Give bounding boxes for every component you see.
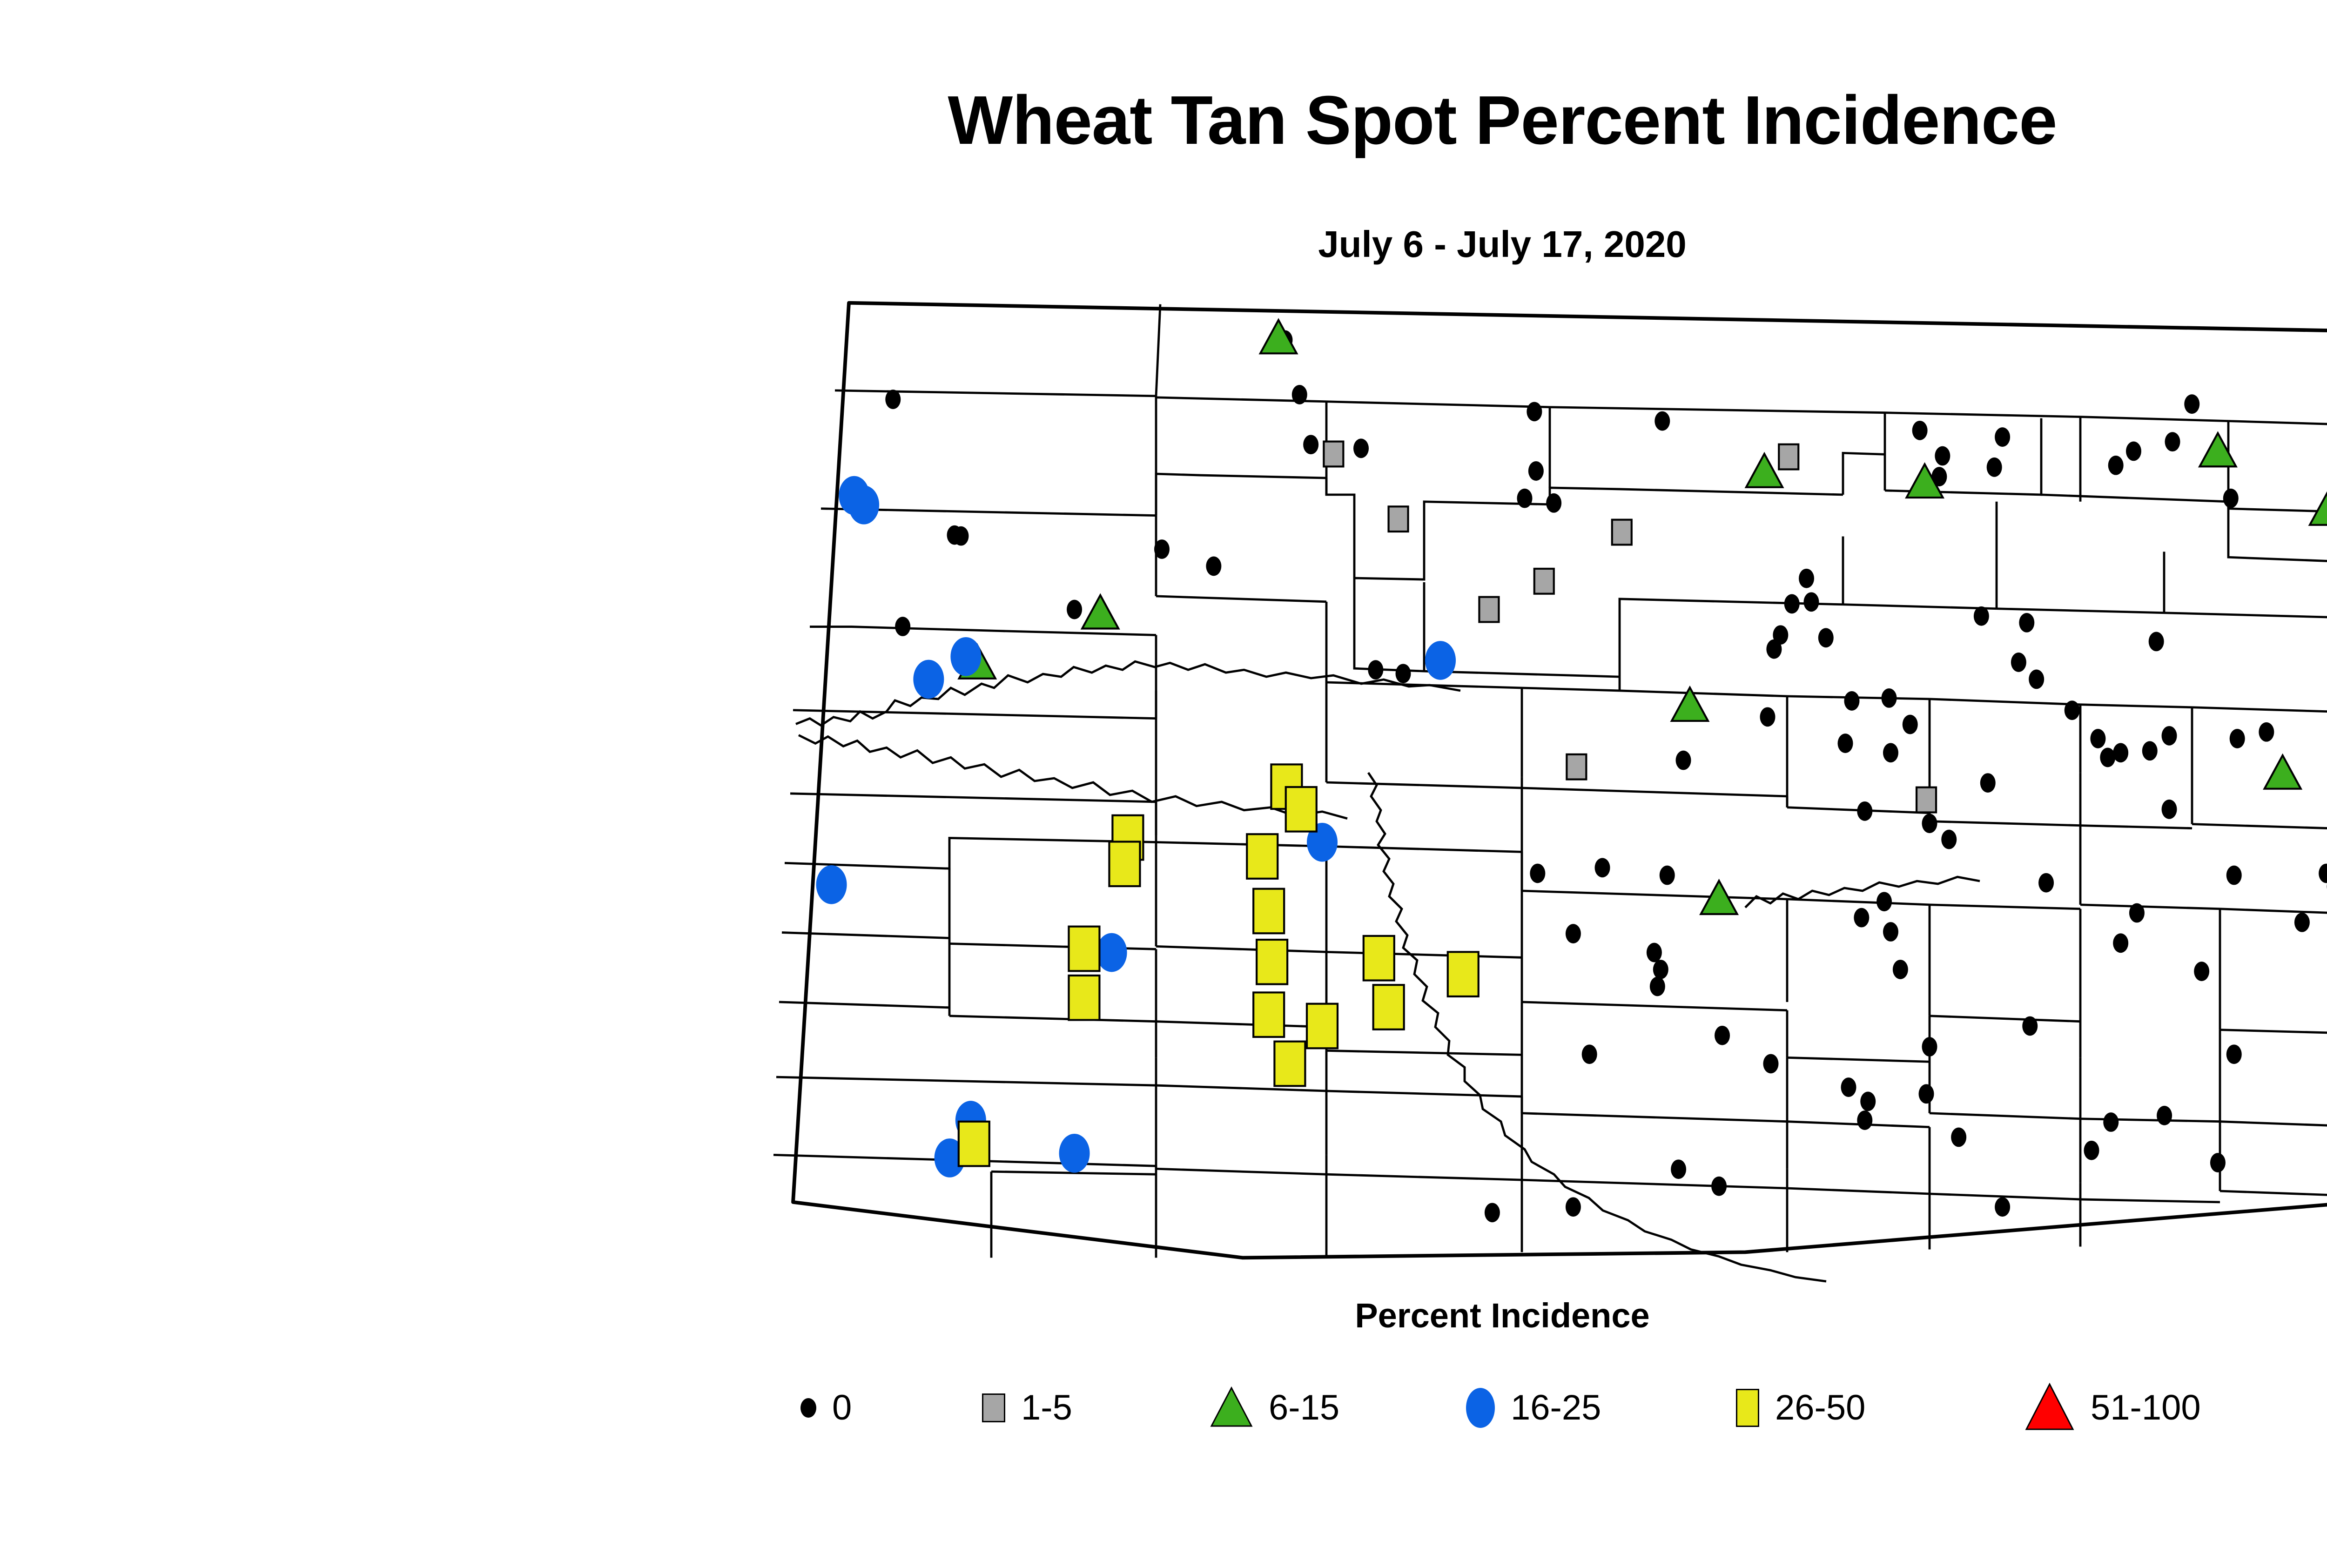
marker-zero xyxy=(2142,741,2158,760)
marker-zero xyxy=(1818,628,1834,647)
marker-zero xyxy=(1654,411,1670,431)
marker-zero xyxy=(1396,664,1411,683)
marker-16-25 xyxy=(816,865,847,904)
marker-zero xyxy=(2019,613,2034,633)
marker-zero xyxy=(1650,977,1665,996)
legend-label-2: 6-15 xyxy=(1269,1390,1339,1426)
marker-zero xyxy=(2226,1044,2242,1064)
marker-zero xyxy=(2165,432,2180,451)
marker-zero xyxy=(2157,1106,2172,1125)
marker-26-50 xyxy=(1373,985,1404,1030)
marker-zero xyxy=(1838,734,1853,753)
marker-zero xyxy=(1676,751,1691,770)
marker-zero xyxy=(1987,458,2002,477)
marker-zero xyxy=(1951,1127,1966,1147)
marker-16-25 xyxy=(950,637,981,676)
marker-zero xyxy=(1941,830,1957,849)
marker-26-50 xyxy=(1307,1004,1338,1049)
marker-zero xyxy=(1857,801,1872,821)
yellow-square-icon xyxy=(1736,1389,1759,1427)
legend-label-3: 16-25 xyxy=(1511,1390,1601,1426)
marker-zero xyxy=(1893,960,1908,979)
marker-zero xyxy=(1582,1044,1597,1064)
marker-zero xyxy=(1784,594,1800,614)
marker-zero xyxy=(1527,402,1542,421)
marker-zero xyxy=(1206,557,1221,576)
marker-zero xyxy=(1154,539,1170,559)
marker-zero xyxy=(1647,943,1662,962)
marker-zero xyxy=(953,526,968,546)
marker-zero xyxy=(1653,960,1668,979)
marker-zero xyxy=(1844,691,1859,711)
marker-6-15 xyxy=(1082,595,1118,629)
legend-item-2[interactable]: 6-15 xyxy=(1210,1368,1339,1447)
legend-item-5[interactable]: 51-100 xyxy=(2024,1368,2201,1447)
marker-zero xyxy=(1803,592,1819,612)
marker-zero xyxy=(2230,729,2245,748)
marker-zero xyxy=(1292,385,1307,404)
marker-zero xyxy=(2100,748,2115,767)
marker-16-25 xyxy=(1425,641,1456,680)
marker-zero xyxy=(1517,489,1533,508)
marker-zero xyxy=(1711,1177,1727,1196)
marker-zero xyxy=(2126,442,2141,461)
legend-label-1: 1-5 xyxy=(1021,1390,1072,1426)
data-point-layer xyxy=(768,279,2327,1294)
marker-zero xyxy=(1974,606,1989,626)
marker-zero xyxy=(1919,1084,1934,1104)
marker-zero xyxy=(1922,814,1937,833)
marker-zero xyxy=(895,617,910,636)
marker-zero xyxy=(2113,933,2128,953)
marker-zero xyxy=(2162,800,2177,819)
marker-26-50 xyxy=(1364,936,1394,981)
marker-zero xyxy=(1671,1159,1686,1179)
marker-16-25 xyxy=(848,485,879,525)
marker-zero xyxy=(1995,427,2010,447)
marker-zero xyxy=(1660,866,1675,885)
marker-zero xyxy=(2108,456,2124,475)
marker-zero xyxy=(2011,653,2026,672)
marker-zero xyxy=(2149,632,2164,651)
marker-6-15 xyxy=(1672,687,1708,721)
green-triangle-svg xyxy=(1210,1386,1253,1427)
marker-zero xyxy=(2038,873,2054,893)
marker-zero xyxy=(1485,1203,1500,1222)
blue-circle-icon xyxy=(1466,1388,1495,1428)
gray-square-icon xyxy=(982,1393,1005,1422)
marker-zero xyxy=(1760,707,1776,727)
marker-26-50 xyxy=(1069,976,1099,1020)
marker-zero xyxy=(1903,715,1918,734)
marker-zero xyxy=(2162,726,2177,746)
marker-26-50 xyxy=(959,1122,989,1166)
marker-zero xyxy=(2065,700,2080,720)
marker-zero xyxy=(1882,688,1897,708)
marker-zero xyxy=(1353,438,1369,458)
marker-zero xyxy=(2259,722,2274,742)
marker-zero xyxy=(2223,489,2239,508)
marker-zero xyxy=(1546,493,1561,513)
marker-26-50 xyxy=(1448,952,1479,996)
marker-zero xyxy=(2103,1112,2119,1132)
marker-zero xyxy=(2022,1016,2038,1036)
marker-1-5 xyxy=(1917,787,1936,813)
marker-1-5 xyxy=(1324,442,1343,467)
marker-zero xyxy=(1763,1054,1778,1074)
marker-zero xyxy=(2194,962,2209,981)
marker-1-5 xyxy=(1612,520,1632,545)
marker-zero xyxy=(1067,600,1082,619)
marker-zero xyxy=(2113,743,2128,762)
marker-zero xyxy=(885,390,901,409)
marker-1-5 xyxy=(1534,569,1554,594)
marker-zero xyxy=(1528,461,1544,481)
marker-26-50 xyxy=(1274,1042,1305,1086)
marker-1-5 xyxy=(1479,597,1499,622)
marker-zero xyxy=(2226,866,2242,885)
marker-zero xyxy=(1766,639,1782,659)
marker-zero xyxy=(1980,773,1996,793)
marker-zero xyxy=(1860,1092,1876,1111)
marker-zero xyxy=(1935,446,1950,466)
marker-zero xyxy=(1883,922,1898,942)
legend-label-0: 0 xyxy=(832,1390,852,1426)
legend-label-5: 51-100 xyxy=(2091,1390,2201,1426)
marker-16-25 xyxy=(1096,933,1127,972)
marker-16-25 xyxy=(913,660,944,699)
page-subtitle: July 6 - July 17, 2020 xyxy=(0,226,2327,263)
north-dakota-map xyxy=(768,279,2327,1294)
marker-zero xyxy=(1799,569,1814,588)
red-triangle-svg xyxy=(2024,1383,2075,1431)
marker-zero xyxy=(1854,908,1869,928)
marker-zero xyxy=(1303,435,1318,454)
black-circle-icon xyxy=(800,1398,816,1418)
marker-zero xyxy=(2090,729,2105,748)
marker-zero xyxy=(2184,394,2199,414)
marker-6-15 xyxy=(1701,881,1737,914)
legend-item-3[interactable]: 16-25 xyxy=(1466,1368,1601,1447)
marker-zero xyxy=(2084,1141,2099,1160)
marker-zero xyxy=(1368,660,1383,680)
marker-zero xyxy=(1566,924,1581,943)
marker-zero xyxy=(1841,1077,1856,1097)
marker-26-50 xyxy=(1247,834,1278,879)
marker-zero xyxy=(1883,743,1898,762)
marker-16-25 xyxy=(1059,1134,1090,1173)
marker-6-15 xyxy=(2265,755,2301,789)
marker-6-15 xyxy=(2199,433,2236,467)
marker-zero xyxy=(1530,864,1545,883)
marker-1-5 xyxy=(1567,754,1586,780)
marker-26-50 xyxy=(1253,992,1284,1037)
marker-26-50 xyxy=(1286,787,1317,832)
marker-zero xyxy=(2319,864,2327,883)
green-triangle-icon xyxy=(1210,1386,1253,1430)
legend: Percent Incidence 0 1-5 6-15 1 xyxy=(0,1299,2327,1485)
marker-zero xyxy=(1912,421,1928,440)
marker-6-15 xyxy=(2310,491,2327,525)
marker-zero xyxy=(1876,892,1892,911)
figure-root: Wheat Tan Spot Percent Incidence July 6 … xyxy=(0,0,2327,1568)
marker-26-50 xyxy=(1253,889,1284,934)
marker-zero xyxy=(2129,903,2145,923)
marker-zero xyxy=(1922,1037,1937,1057)
marker-1-5 xyxy=(1389,506,1408,532)
legend-item-0[interactable]: 0 xyxy=(800,1368,852,1447)
marker-zero xyxy=(2210,1153,2226,1172)
marker-1-5 xyxy=(1779,444,1798,470)
marker-26-50 xyxy=(1109,841,1140,886)
marker-zero xyxy=(1995,1197,2010,1217)
page-title: Wheat Tan Spot Percent Incidence xyxy=(0,86,2327,155)
marker-zero xyxy=(1715,1026,1730,1045)
marker-26-50 xyxy=(1069,927,1099,971)
marker-26-50 xyxy=(1257,940,1287,984)
legend-label-4: 26-50 xyxy=(1775,1390,1865,1426)
legend-item-1[interactable]: 1-5 xyxy=(982,1368,1072,1447)
red-triangle-icon xyxy=(2024,1383,2075,1433)
marker-zero xyxy=(1566,1197,1581,1217)
legend-item-4[interactable]: 26-50 xyxy=(1736,1368,1865,1447)
legend-title: Percent Incidence xyxy=(0,1299,2327,1333)
marker-zero xyxy=(2294,913,2310,932)
legend-items: 0 1-5 6-15 16-25 26-50 xyxy=(800,1368,2327,1447)
marker-zero xyxy=(1857,1110,1872,1130)
marker-zero xyxy=(2029,669,2044,689)
marker-6-15 xyxy=(1746,454,1782,487)
marker-group xyxy=(816,320,2327,1223)
marker-zero xyxy=(1595,858,1610,877)
